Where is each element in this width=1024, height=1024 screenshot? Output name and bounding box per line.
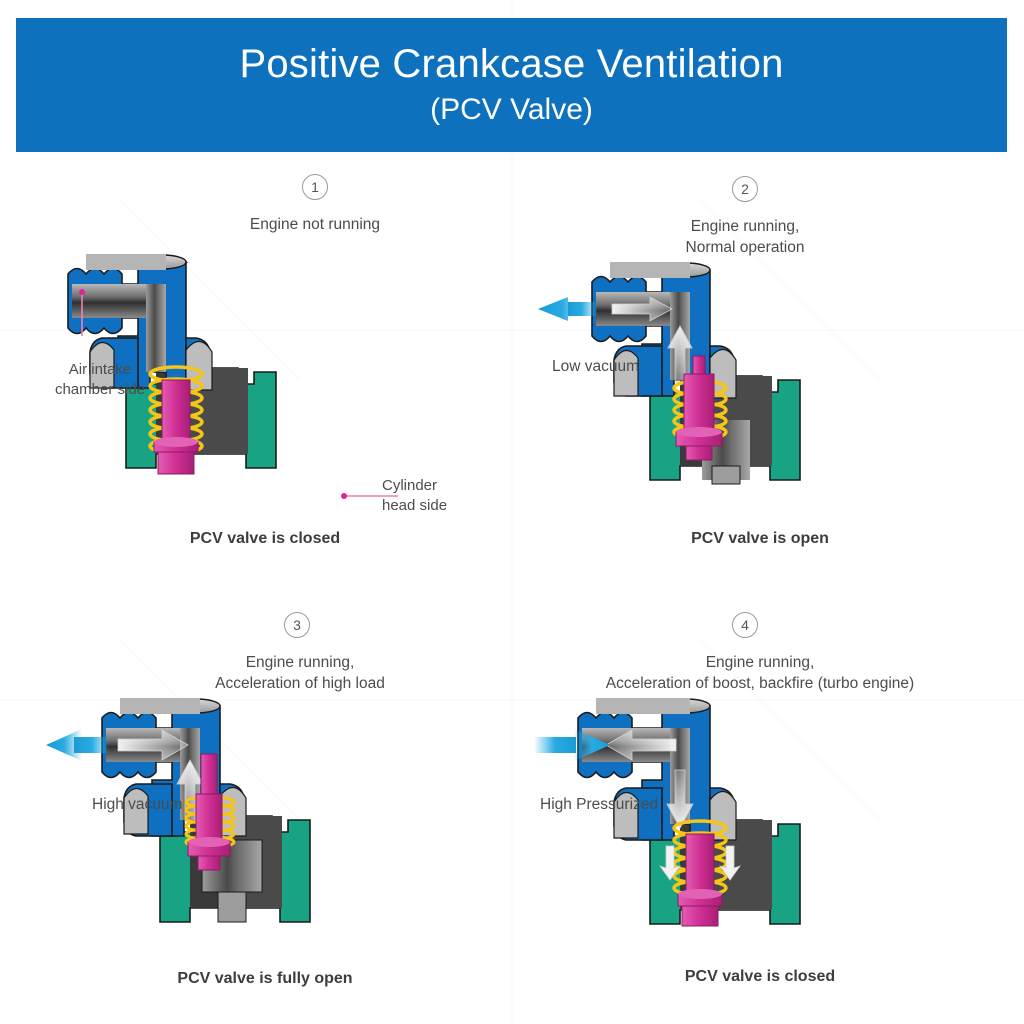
panel-1-caption: PCV valve is closed: [30, 530, 500, 548]
page-title: Positive Crankcase Ventilation: [239, 40, 783, 88]
panel-3: 3 Engine running, Acceleration of high l…: [30, 606, 500, 1006]
panel-4: 4 Engine running, Acceleration of boost,…: [520, 606, 1000, 1006]
callout-label-air-intake: Air intake chamber side: [30, 360, 170, 400]
pcv-valve-illustration-2: [520, 260, 1000, 550]
step-badge-3: 3: [284, 612, 310, 638]
flow-arrow-2: [538, 297, 598, 321]
step-badge-4: 4: [732, 612, 758, 638]
flow-label-3: High vacuum: [92, 796, 182, 814]
callout-label-cylinder-head: Cylinder head side: [382, 476, 512, 516]
panel-2-subtitle: Engine running, Normal operation: [615, 216, 875, 258]
panel-4-subtitle: Engine running, Acceleration of boost, b…: [535, 652, 985, 694]
diagram-canvas: Positive Crankcase Ventilation (PCV Valv…: [0, 0, 1024, 1024]
title-banner: Positive Crankcase Ventilation (PCV Valv…: [16, 18, 1007, 152]
panel-2: 2 Engine running, Normal operation: [520, 168, 1000, 568]
flow-label-4: High Pressurized: [540, 796, 658, 814]
panel-2-caption: PCV valve is open: [520, 530, 1000, 548]
callout-line-air-intake: [68, 286, 188, 356]
panel-3-subtitle: Engine running, Acceleration of high loa…: [165, 652, 435, 694]
pcv-valve-illustration-3: [30, 696, 500, 986]
panel-3-caption: PCV valve is fully open: [30, 970, 500, 988]
step-badge-1: 1: [302, 174, 328, 200]
flow-arrow-3: [46, 729, 110, 761]
panel-4-caption: PCV valve is closed: [520, 968, 1000, 986]
panel-1-subtitle: Engine not running: [185, 214, 445, 235]
valve-body-4: [578, 699, 736, 840]
panel-1: 1 Engine not running: [30, 168, 500, 568]
page-subtitle: (PCV Valve): [430, 90, 593, 130]
flow-label-2: Low vacuum: [552, 358, 639, 376]
pcv-valve-illustration-4: [520, 696, 1000, 986]
step-badge-2: 2: [732, 176, 758, 202]
